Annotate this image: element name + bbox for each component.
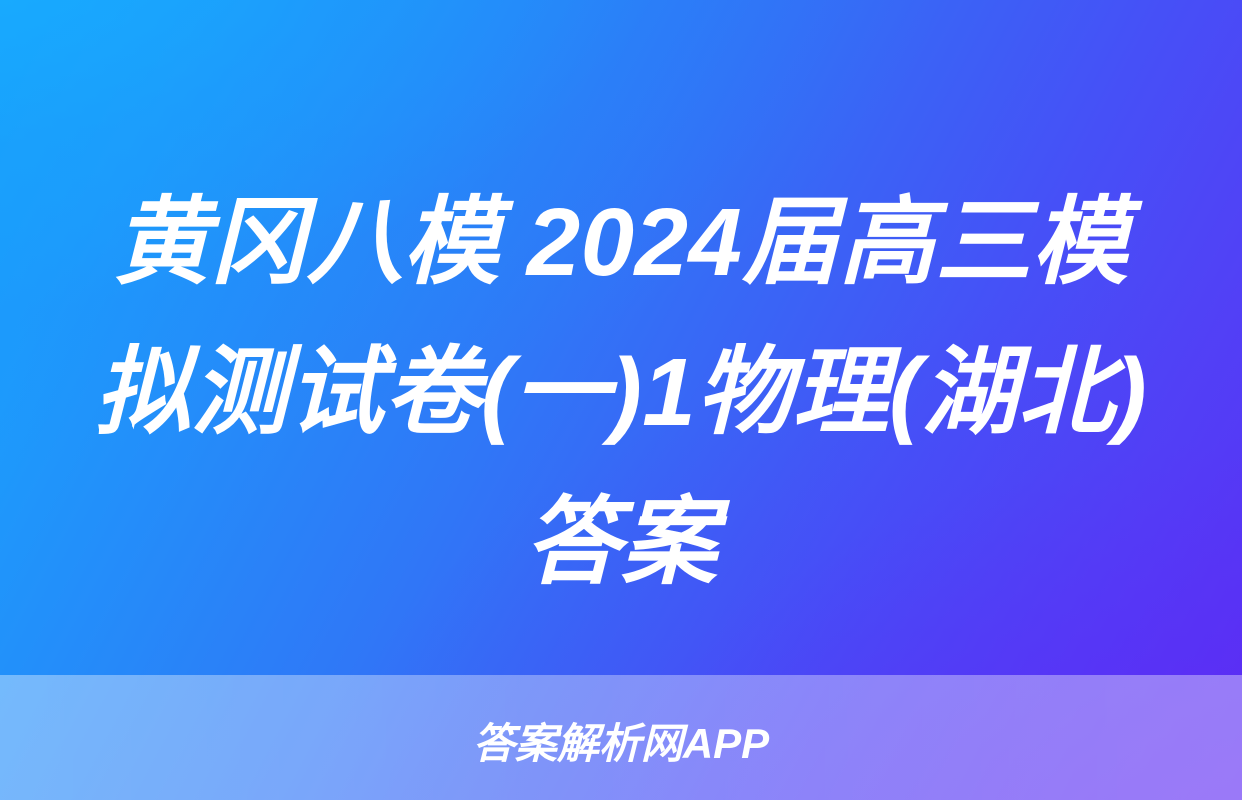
watermark-label: 答案解析网APP (473, 723, 769, 765)
page-title: 黄冈八模 2024届高三模拟测试卷(一)1物理(湖北)答案 (71, 168, 1171, 618)
cover-card: 黄冈八模 2024届高三模拟测试卷(一)1物理(湖北)答案 答案解析网APP (0, 0, 1242, 800)
footer-band: 答案解析网APP (0, 675, 1242, 800)
headline-block: 黄冈八模 2024届高三模拟测试卷(一)1物理(湖北)答案 (0, 168, 1242, 618)
watermark: 答案解析网APP (0, 675, 1242, 800)
